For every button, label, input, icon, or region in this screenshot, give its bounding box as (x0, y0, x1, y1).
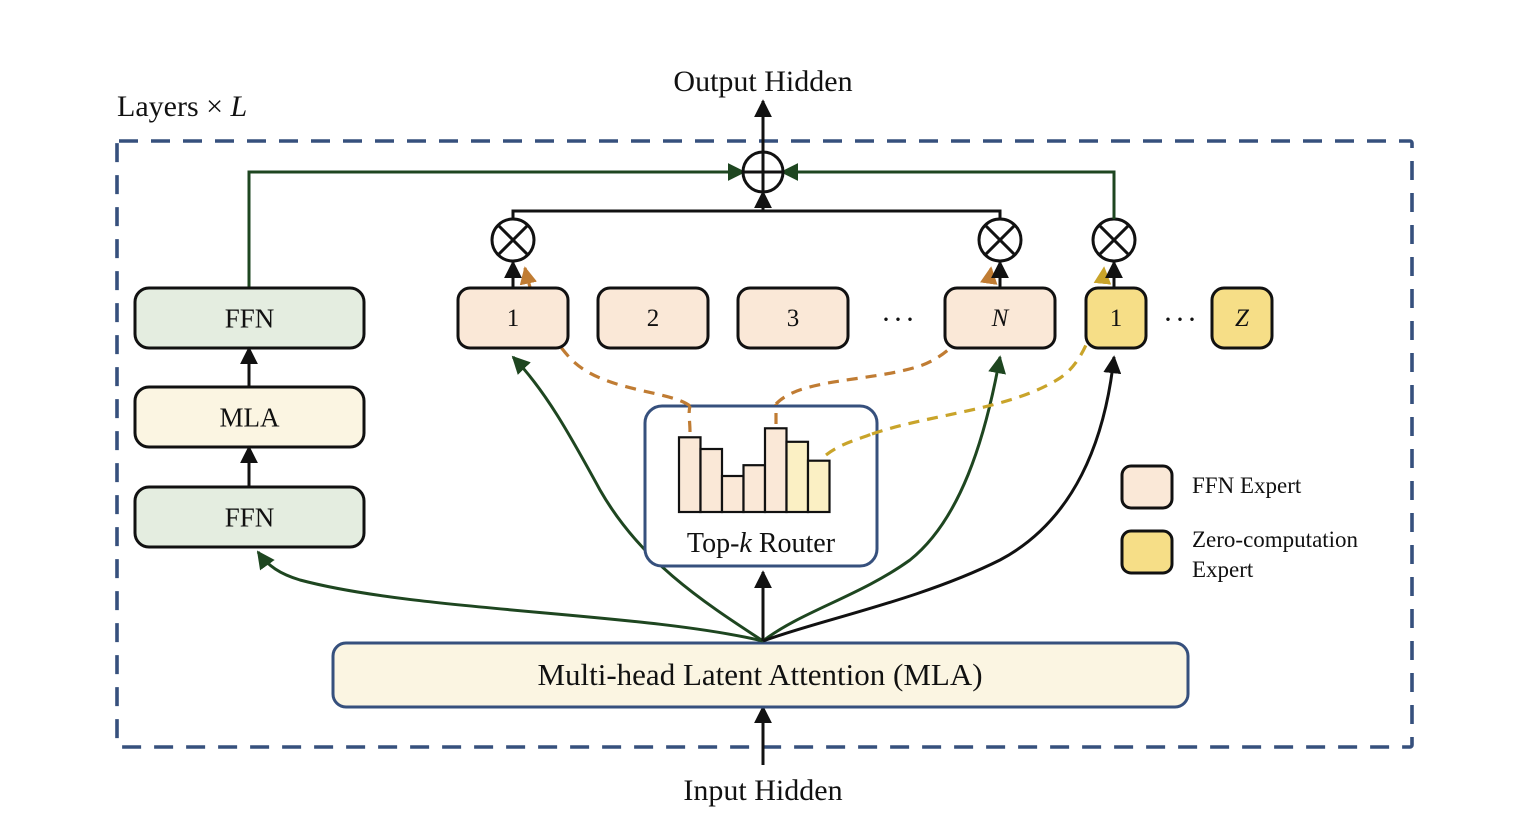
ffn-expert-box-0-label: 1 (507, 305, 520, 333)
router-bar-e2 (701, 449, 723, 512)
router-bar-e1 (679, 437, 701, 512)
ffn-expert-box-1-label: 2 (647, 305, 660, 333)
legend-label-zero-expert-line2: Expert (1192, 557, 1253, 583)
router-bar-z1 (787, 442, 809, 512)
ffn-expert-box-3-label: N (992, 305, 1009, 333)
sum-node (743, 152, 783, 192)
router-bar-z2 (808, 461, 830, 512)
ffn-expert-box-2-label: 3 (787, 305, 800, 333)
left-stack-block-label-2: FFN (225, 503, 275, 534)
input-hidden-label: Input Hidden (683, 774, 842, 808)
layers-frame-label-italic: L (231, 90, 248, 123)
layers-frame-label: Layers × L (117, 90, 247, 124)
legend-swatch-ffn-expert (1122, 466, 1172, 508)
attention-block-label: Multi-head Latent Attention (MLA) (537, 657, 982, 693)
legend-label-zero-expert: Zero-computation (1192, 527, 1358, 553)
zero-expert-ellipsis: ··· (1163, 303, 1199, 337)
output-hidden-label: Output Hidden (673, 65, 852, 99)
diagram-root: Output Hidden Input Hidden Layers × L Mu… (0, 0, 1540, 826)
left-stack-block-label-1: MLA (220, 403, 280, 434)
router-label-italic: k (739, 528, 751, 559)
router-bar-e3 (722, 476, 744, 512)
multiply-node-expert-1 (492, 219, 534, 261)
left-stack-block-label-0: FFN (225, 304, 275, 335)
legend-swatch-zero-expert (1122, 531, 1172, 573)
multiply-node-zero-expert-1 (1093, 219, 1135, 261)
layers-frame-label-text: Layers × (117, 90, 231, 123)
multiply-node-expert-n (979, 219, 1021, 261)
router-bar-e4 (744, 465, 766, 512)
zero-expert-box-1-label: Z (1235, 305, 1249, 333)
bus-experts-to-sum (513, 211, 1000, 219)
expert-boxes (458, 288, 1272, 348)
router-bar-e5 (765, 428, 787, 512)
router-label: Top-k Router (687, 528, 835, 560)
zero-expert-box-0-label: 1 (1110, 305, 1123, 333)
router-label-part1: Top- (687, 528, 739, 559)
router-label-part2: Router (752, 528, 835, 559)
ffn-expert-ellipsis: ··· (881, 303, 917, 337)
legend-label-ffn-expert: FFN Expert (1192, 473, 1301, 499)
